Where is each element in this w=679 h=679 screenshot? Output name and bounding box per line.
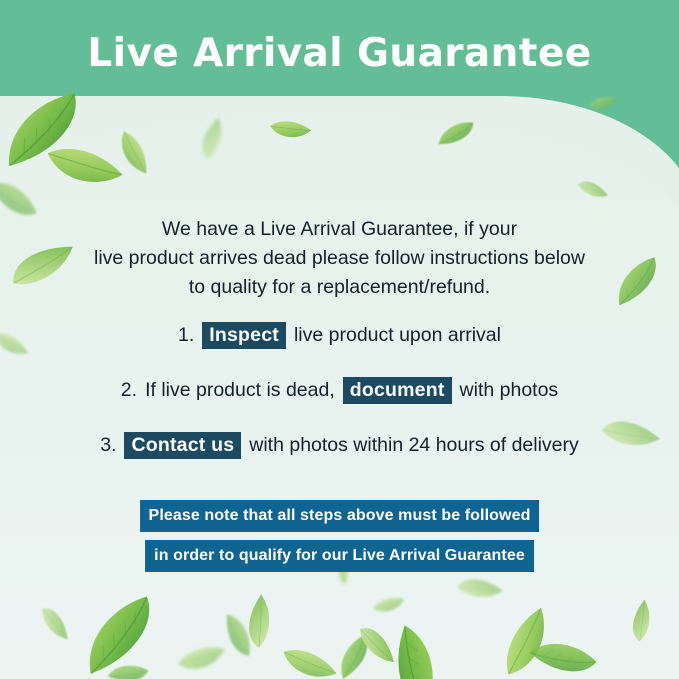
intro-paragraph: We have a Live Arrival Guarantee, if you… (75, 215, 605, 302)
intro-line-2: live product arrives dead please follow … (75, 244, 605, 273)
intro-line-1: We have a Live Arrival Guarantee, if you… (75, 215, 605, 244)
step-text-after: with photos (460, 379, 559, 402)
note-banner-line-1: Please note that all steps above must be… (140, 500, 540, 532)
step-text-before: If live product is dead, (145, 379, 335, 402)
note-banner-line-2: in order to qualify for our Live Arrival… (145, 540, 534, 572)
step-highlight-document: document (343, 377, 452, 404)
instruction-steps: 1. Inspect live product upon arrival 2. … (0, 316, 679, 481)
step-number: 1. (178, 324, 194, 347)
live-arrival-guarantee-card: Live Arrival Guarantee We have a Live Ar… (0, 0, 679, 679)
step-item-1: 1. Inspect live product upon arrival (0, 316, 679, 354)
step-number: 2. (121, 379, 137, 402)
step-text-after: live product upon arrival (294, 324, 501, 347)
leaf-icon (391, 623, 440, 679)
step-item-2: 2. If live product is dead, document wit… (0, 371, 679, 409)
step-number: 3. (100, 434, 116, 457)
step-text-after: with photos within 24 hours of delivery (249, 434, 579, 457)
step-highlight-inspect: Inspect (202, 322, 286, 349)
note-banner: Please note that all steps above must be… (140, 500, 540, 572)
step-item-3: 3. Contact us with photos within 24 hour… (0, 426, 679, 464)
page-title: Live Arrival Guarantee (0, 31, 679, 76)
intro-line-3: to quality for a replacement/refund. (75, 273, 605, 302)
step-highlight-contact-us: Contact us (124, 432, 241, 459)
